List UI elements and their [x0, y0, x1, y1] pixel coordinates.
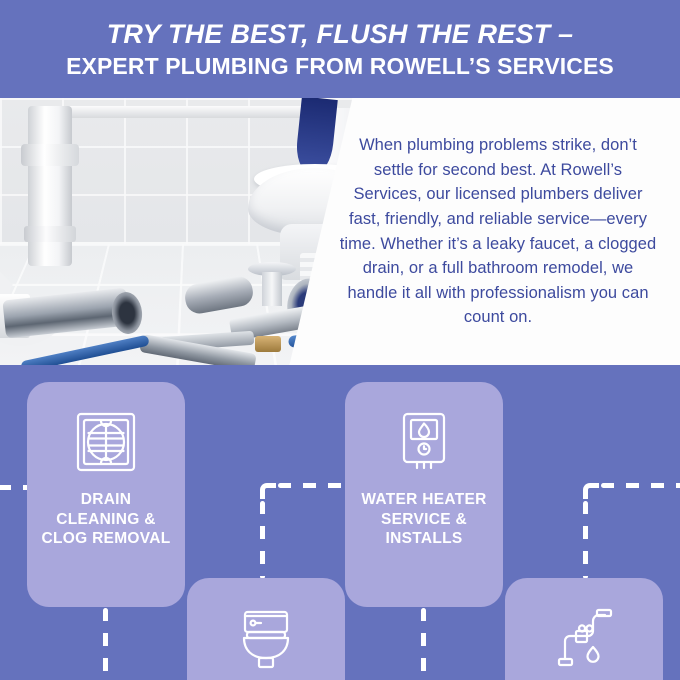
connector-dash-card3-down — [421, 608, 426, 680]
headline-primary: TRY THE BEST, FLUSH THE REST – — [107, 19, 574, 49]
connector-dash-card1-down — [103, 608, 108, 680]
connector-dash-right-exit — [601, 483, 680, 488]
service-card-toilet[interactable] — [187, 578, 345, 680]
intro-paragraph: When plumbing problems strike, don’t set… — [338, 133, 658, 330]
services-section: DRAIN CLEANING & CLOG REMOVAL — [0, 365, 680, 680]
toilet-icon — [232, 604, 300, 672]
header-banner: TRY THE BEST, FLUSH THE REST – EXPERT PL… — [0, 0, 680, 98]
infographic-root: TRY THE BEST, FLUSH THE REST – EXPERT PL… — [0, 0, 680, 680]
drain-grate-icon — [72, 408, 140, 476]
service-card-water-heater[interactable]: WATER HEATER SERVICE & INSTALLS — [345, 382, 503, 607]
service-card-pipe-leak[interactable] — [505, 578, 663, 680]
water-heater-icon — [390, 408, 458, 476]
service-card-label: DRAIN CLEANING & CLOG REMOVAL — [27, 490, 185, 549]
connector-dash-middle-right — [278, 483, 346, 488]
service-card-label: WATER HEATER SERVICE & INSTALLS — [345, 490, 503, 549]
connector-dash-right-down — [583, 501, 588, 579]
tool-drain-stem — [262, 272, 282, 306]
service-card-drain-cleaning[interactable]: DRAIN CLEANING & CLOG REMOVAL — [27, 382, 185, 607]
pipe-collar-upper — [21, 144, 79, 166]
connector-dash-middle-down — [260, 501, 265, 579]
connector-corner-right — [583, 483, 599, 499]
tool-brass-fitting — [255, 336, 281, 352]
pipe-leak-icon — [550, 604, 618, 672]
media-section: When plumbing problems strike, don’t set… — [0, 98, 680, 365]
wall-ledge — [60, 106, 310, 118]
headline-secondary: EXPERT PLUMBING FROM ROWELL’S SERVICES — [66, 53, 614, 79]
connector-corner-middle — [260, 483, 276, 499]
